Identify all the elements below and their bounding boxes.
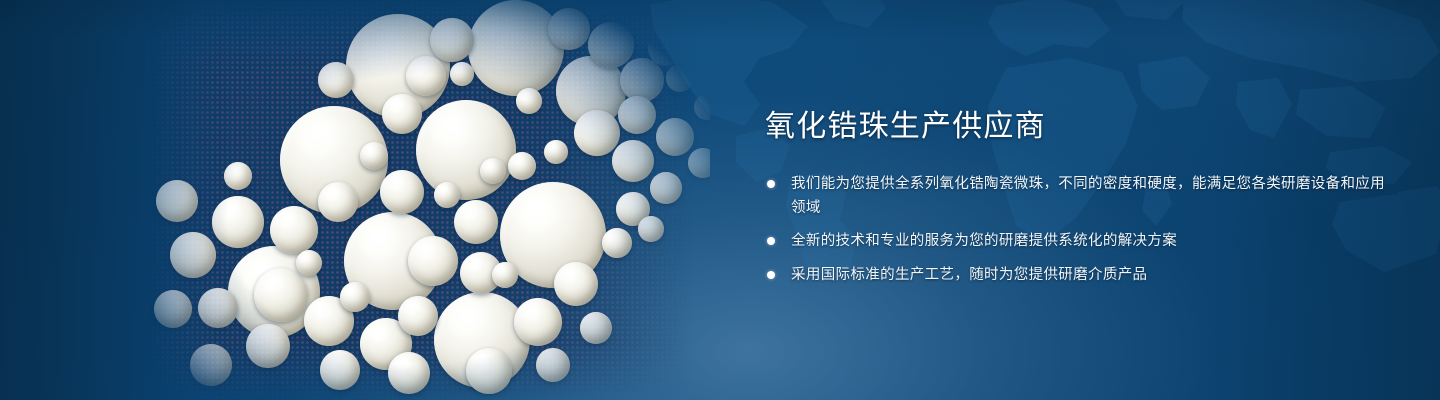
bead [574, 110, 620, 156]
bead [544, 140, 568, 164]
bead [430, 18, 474, 62]
bead [468, 0, 564, 96]
bead [156, 180, 198, 222]
bullet-dot-icon [767, 180, 775, 188]
bead [588, 22, 634, 68]
bead [466, 348, 512, 394]
bead [638, 216, 664, 242]
bead [340, 282, 370, 312]
bead [360, 142, 388, 170]
bead [170, 232, 216, 278]
bead [480, 158, 506, 184]
bead [580, 312, 612, 344]
bead [246, 324, 290, 368]
bead [648, 30, 684, 66]
bead [190, 344, 232, 386]
bead-cluster [150, 0, 710, 400]
bead [650, 172, 682, 204]
bead [318, 182, 358, 222]
banner-bullet-list: 我们能为您提供全系列氧化锆陶瓷微珠，不同的密度和硬度，能满足您各类研磨设备和应用… [765, 172, 1385, 287]
bead [154, 290, 192, 328]
banner-text-column: 氧化锆珠生产供应商 我们能为您提供全系列氧化锆陶瓷微珠，不同的密度和硬度，能满足… [765, 108, 1385, 287]
zirconia-beads-photo [150, 0, 710, 400]
bead [516, 88, 542, 114]
bead [270, 206, 318, 254]
bead [434, 182, 460, 208]
bead [212, 196, 264, 248]
bead [388, 352, 430, 394]
zirconia-beads-banner: 氧化锆珠生产供应商 我们能为您提供全系列氧化锆陶瓷微珠，不同的密度和硬度，能满足… [0, 0, 1440, 400]
bullet-text: 我们能为您提供全系列氧化锆陶瓷微珠，不同的密度和硬度，能满足您各类研磨设备和应用… [791, 172, 1385, 221]
bead [408, 236, 458, 286]
bead [380, 170, 424, 214]
bead [688, 148, 710, 178]
list-item: 全新的技术和专业的服务为您的研磨提供系统化的解决方案 [765, 229, 1385, 253]
bead [296, 250, 322, 276]
bead [398, 296, 438, 336]
bead [254, 268, 308, 322]
bead [318, 62, 354, 98]
bead [416, 100, 516, 200]
list-item: 采用国际标准的生产工艺，随时为您提供研磨介质产品 [765, 263, 1385, 287]
bullet-dot-icon [767, 271, 775, 279]
bead [514, 298, 562, 346]
bead [224, 162, 252, 190]
bead [492, 262, 518, 288]
bead [674, 2, 704, 32]
bullet-text: 全新的技术和专业的服务为您的研磨提供系统化的解决方案 [791, 229, 1385, 253]
bead [694, 94, 710, 120]
bead [454, 200, 498, 244]
bead [382, 94, 422, 134]
bead [198, 288, 238, 328]
bead [320, 350, 360, 390]
list-item: 我们能为您提供全系列氧化锆陶瓷微珠，不同的密度和硬度，能满足您各类研磨设备和应用… [765, 172, 1385, 221]
bead [548, 8, 590, 50]
banner-headline: 氧化锆珠生产供应商 [765, 108, 1385, 146]
bead [620, 58, 664, 102]
bead [508, 152, 536, 180]
bead [618, 96, 656, 134]
bead [450, 62, 474, 86]
bullet-dot-icon [767, 237, 775, 245]
bead [656, 118, 694, 156]
bead [612, 140, 654, 182]
bead [406, 56, 446, 96]
bullet-text: 采用国际标准的生产工艺，随时为您提供研磨介质产品 [791, 263, 1385, 287]
bead [602, 228, 632, 258]
bead [536, 348, 570, 382]
bead [666, 64, 694, 92]
bead [554, 262, 598, 306]
